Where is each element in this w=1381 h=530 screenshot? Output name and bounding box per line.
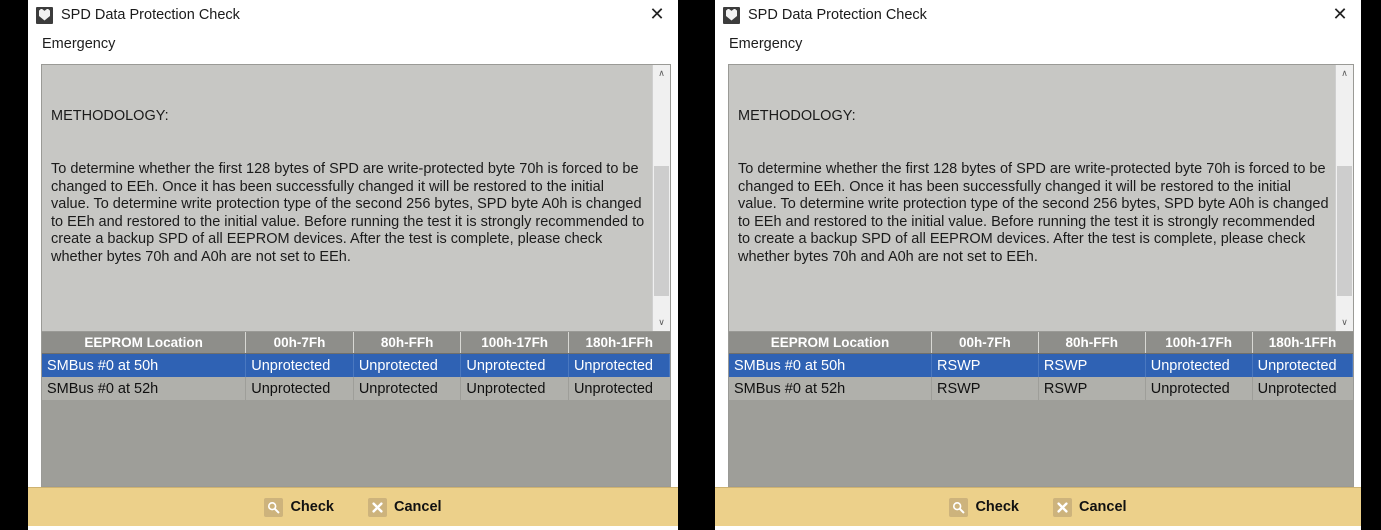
col-180h-1ffh[interactable]: 180h-1FFh xyxy=(568,332,669,354)
check-button[interactable]: Check xyxy=(260,496,338,519)
title-bar: SPD Data Protection Check ✕ xyxy=(28,0,678,30)
col-00h-7fh[interactable]: 00h-7Fh xyxy=(246,332,354,354)
cell-100h-17fh: Unprotected xyxy=(461,354,569,378)
magnifier-icon xyxy=(264,498,283,517)
cell-location: SMBus #0 at 50h xyxy=(729,354,931,378)
cell-100h-17fh: Unprotected xyxy=(461,377,569,400)
cell-80h-ffh: Unprotected xyxy=(353,377,461,400)
methodology-body: To determine whether the first 128 bytes… xyxy=(51,161,646,267)
cell-180h-1ffh: Unprotected xyxy=(568,377,669,400)
text-scrollbar[interactable]: ∧ ∨ xyxy=(1335,65,1353,331)
close-x-icon xyxy=(1053,498,1072,517)
cancel-button[interactable]: Cancel xyxy=(1049,496,1131,519)
cell-180h-1ffh: Unprotected xyxy=(1252,377,1352,400)
cell-100h-17fh: Unprotected xyxy=(1145,354,1252,378)
window-title: SPD Data Protection Check xyxy=(748,7,927,23)
methodology-text: METHODOLOGY: To determine whether the fi… xyxy=(729,65,1335,331)
col-eeprom-location[interactable]: EEPROM Location xyxy=(729,332,931,354)
shield-app-icon xyxy=(723,7,740,24)
spd-check-window-right: SPD Data Protection Check ✕ Emergency ME… xyxy=(715,0,1361,530)
table-row[interactable]: SMBus #0 at 52h RSWP RSWP Unprotected Un… xyxy=(729,377,1353,400)
eeprom-table: EEPROM Location 00h-7Fh 80h-FFh 100h-17F… xyxy=(42,332,670,400)
scrollbar-thumb[interactable] xyxy=(1337,166,1352,296)
methodology-text: METHODOLOGY: To determine whether the fi… xyxy=(42,65,652,331)
client-area: METHODOLOGY: To determine whether the fi… xyxy=(715,58,1361,487)
cell-location: SMBus #0 at 52h xyxy=(729,377,931,400)
methodology-heading: METHODOLOGY: xyxy=(738,108,1329,126)
shield-app-icon xyxy=(36,7,53,24)
window-bottom-edge xyxy=(28,526,678,530)
footer-bar: Check Cancel xyxy=(28,487,678,526)
menu-item-emergency[interactable]: Emergency xyxy=(28,36,121,52)
check-button-label: Check xyxy=(290,499,334,515)
eeprom-table-container: EEPROM Location 00h-7Fh 80h-FFh 100h-17F… xyxy=(41,332,671,487)
menu-bar: Emergency xyxy=(715,30,1361,58)
title-bar: SPD Data Protection Check ✕ xyxy=(715,0,1361,30)
cell-180h-1ffh: Unprotected xyxy=(1252,354,1352,378)
cell-80h-ffh: Unprotected xyxy=(353,354,461,378)
close-icon[interactable]: ✕ xyxy=(644,3,670,27)
scroll-down-icon[interactable]: ∨ xyxy=(1336,314,1353,331)
cell-80h-ffh: RSWP xyxy=(1038,377,1145,400)
window-bottom-edge xyxy=(715,526,1361,530)
table-header-row: EEPROM Location 00h-7Fh 80h-FFh 100h-17F… xyxy=(729,332,1353,354)
cell-180h-1ffh: Unprotected xyxy=(568,354,669,378)
methodology-panel: METHODOLOGY: To determine whether the fi… xyxy=(728,64,1354,332)
col-00h-7fh[interactable]: 00h-7Fh xyxy=(931,332,1038,354)
cell-80h-ffh: RSWP xyxy=(1038,354,1145,378)
table-row[interactable]: SMBus #0 at 52h Unprotected Unprotected … xyxy=(42,377,670,400)
methodology-body: To determine whether the first 128 bytes… xyxy=(738,161,1329,267)
menu-item-emergency[interactable]: Emergency xyxy=(715,36,808,52)
cancel-button-label: Cancel xyxy=(1079,499,1127,515)
cell-00h-7fh: Unprotected xyxy=(246,377,354,400)
scrollbar-track[interactable] xyxy=(653,82,670,314)
col-80h-ffh[interactable]: 80h-FFh xyxy=(1038,332,1145,354)
col-180h-1ffh[interactable]: 180h-1FFh xyxy=(1252,332,1352,354)
cancel-button-label: Cancel xyxy=(394,499,442,515)
table-row[interactable]: SMBus #0 at 50h RSWP RSWP Unprotected Un… xyxy=(729,354,1353,378)
methodology-panel: METHODOLOGY: To determine whether the fi… xyxy=(41,64,671,332)
menu-bar: Emergency xyxy=(28,30,678,58)
cell-00h-7fh: Unprotected xyxy=(246,354,354,378)
cell-location: SMBus #0 at 52h xyxy=(42,377,246,400)
cancel-button[interactable]: Cancel xyxy=(364,496,446,519)
scroll-down-icon[interactable]: ∨ xyxy=(653,314,670,331)
cell-00h-7fh: RSWP xyxy=(931,354,1038,378)
close-x-icon xyxy=(368,498,387,517)
table-row[interactable]: SMBus #0 at 50h Unprotected Unprotected … xyxy=(42,354,670,378)
col-eeprom-location[interactable]: EEPROM Location xyxy=(42,332,246,354)
table-header-row: EEPROM Location 00h-7Fh 80h-FFh 100h-17F… xyxy=(42,332,670,354)
eeprom-table: EEPROM Location 00h-7Fh 80h-FFh 100h-17F… xyxy=(729,332,1353,400)
spd-check-window-left: SPD Data Protection Check ✕ Emergency ME… xyxy=(28,0,678,530)
close-icon[interactable]: ✕ xyxy=(1327,3,1353,27)
scrollbar-thumb[interactable] xyxy=(654,166,669,296)
cell-100h-17fh: Unprotected xyxy=(1145,377,1252,400)
col-100h-17fh[interactable]: 100h-17Fh xyxy=(1145,332,1252,354)
scroll-up-icon[interactable]: ∧ xyxy=(653,65,670,82)
methodology-heading: METHODOLOGY: xyxy=(51,108,646,126)
client-area: METHODOLOGY: To determine whether the fi… xyxy=(28,58,678,487)
text-gap xyxy=(738,302,1329,319)
text-scrollbar[interactable]: ∧ ∨ xyxy=(652,65,670,331)
col-100h-17fh[interactable]: 100h-17Fh xyxy=(461,332,569,354)
text-gap xyxy=(51,302,646,319)
scroll-up-icon[interactable]: ∧ xyxy=(1336,65,1353,82)
col-80h-ffh[interactable]: 80h-FFh xyxy=(353,332,461,354)
eeprom-table-container: EEPROM Location 00h-7Fh 80h-FFh 100h-17F… xyxy=(728,332,1354,487)
footer-bar: Check Cancel xyxy=(715,487,1361,526)
check-button-label: Check xyxy=(975,499,1019,515)
cell-location: SMBus #0 at 50h xyxy=(42,354,246,378)
check-button[interactable]: Check xyxy=(945,496,1023,519)
magnifier-icon xyxy=(949,498,968,517)
window-title: SPD Data Protection Check xyxy=(61,7,240,23)
cell-00h-7fh: RSWP xyxy=(931,377,1038,400)
scrollbar-track[interactable] xyxy=(1336,82,1353,314)
